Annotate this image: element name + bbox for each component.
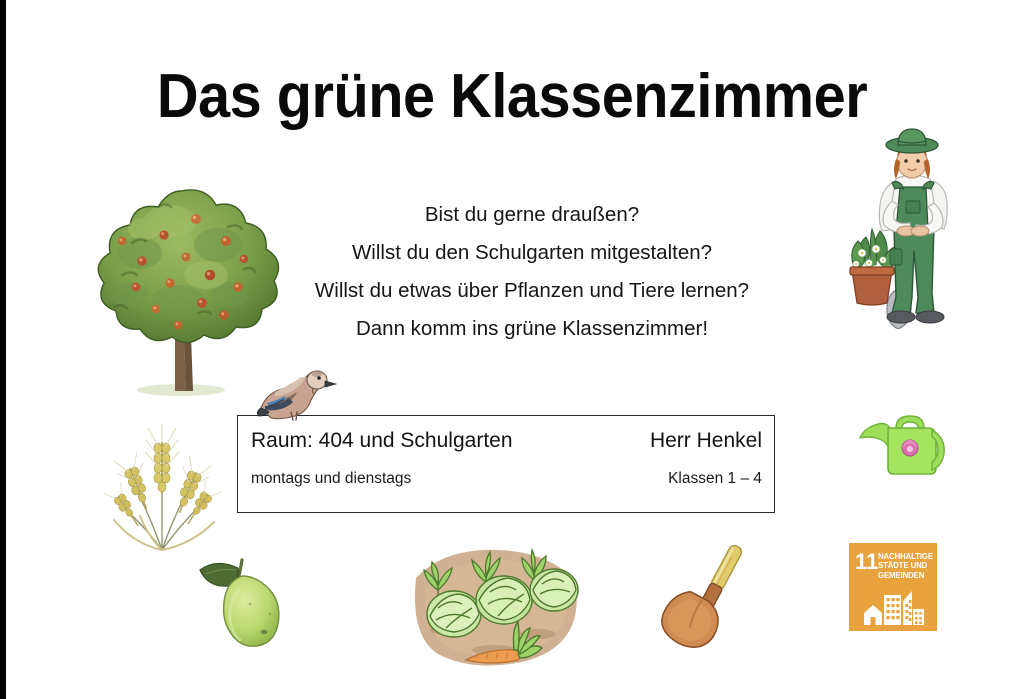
info-row-secondary: montags und dienstags Klassen 1 – 4 [238,470,774,488]
vegetable-bed-illustration [406,526,584,678]
days-label: montags und dienstags [251,470,411,488]
sdg-badge-background: 11 NACHHALTIGE STÄDTE UND GEMEINDEN [849,543,937,631]
poster-slide: Das grüne Klassenzimmer Bist du gerne dr… [0,0,1024,699]
sdg-number: 11 [855,551,878,573]
pear-illustration [186,546,302,658]
sdg-11-badge: 11 NACHHALTIGE STÄDTE UND GEMEINDEN [849,543,937,631]
info-box: Raum: 404 und Schulgarten Herr Henkel mo… [237,415,775,513]
shovel-illustration [654,538,768,658]
intro-line-1: Bist du gerne draußen? [262,196,802,234]
sdg-title-line-1: NACHHALTIGE [878,552,931,561]
intro-text-block: Bist du gerne draußen? Willst du den Sch… [262,196,802,348]
room-label: Raum: 404 und Schulgarten [251,429,513,453]
sdg-title: NACHHALTIGE STÄDTE UND GEMEINDEN [878,552,931,580]
sdg-title-line-2: STÄDTE UND [878,561,931,570]
intro-line-3: Willst du etwas über Pflanzen und Tiere … [262,272,802,310]
jay-bird-illustration [253,362,341,424]
gardener-illustration [848,121,976,329]
page-title: Das grüne Klassenzimmer [36,62,988,132]
wheat-illustration [96,424,228,552]
grades-label: Klassen 1 – 4 [668,470,762,488]
watering-can-illustration [856,412,952,484]
left-edge-bar [0,0,6,699]
teacher-label: Herr Henkel [650,429,762,453]
intro-line-4: Dann komm ins grüne Klassenzimmer! [262,310,802,348]
sdg-buildings-icon [862,587,924,625]
info-row-primary: Raum: 404 und Schulgarten Herr Henkel [238,429,774,453]
sdg-title-line-3: GEMEINDEN [878,571,931,580]
intro-line-2: Willst du den Schulgarten mitgestalten? [262,234,802,272]
